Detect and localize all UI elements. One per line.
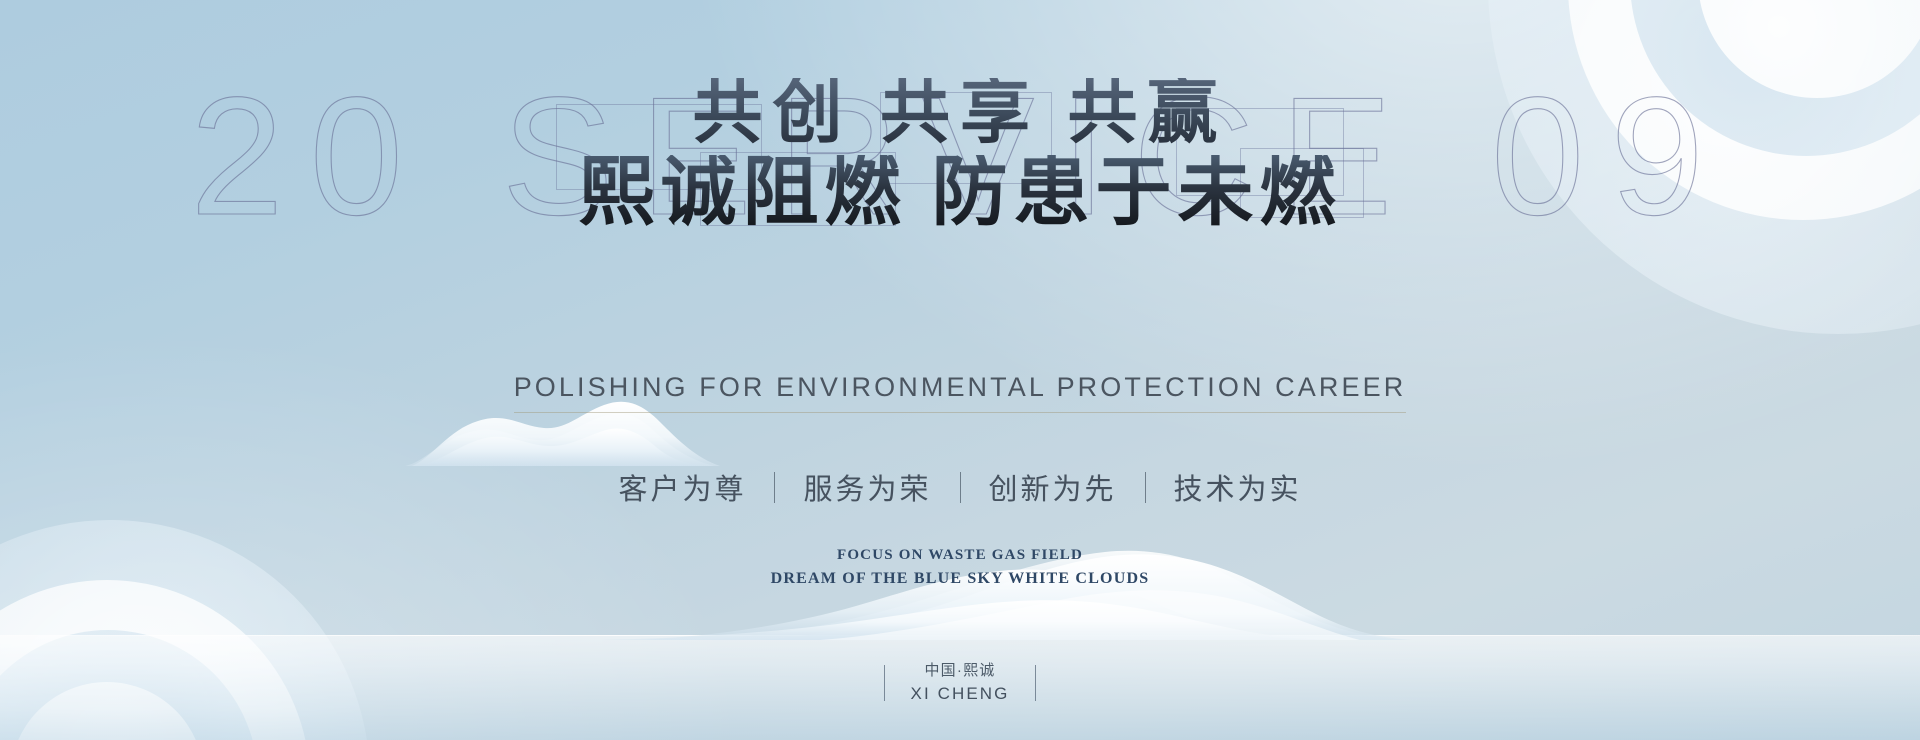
mini-slogan-block: FOCUS ON WASTE GAS FIELD DREAM OF THE BL… [0,545,1920,590]
mini-slogan-line-2: DREAM OF THE BLUE SKY WHITE CLOUDS [0,567,1920,590]
headline-line-1: 共创 共享 共赢 [0,78,1920,149]
footer-brand-en: XI CHENG [911,683,1010,706]
promo-banner: 20 SERVICE 09 [0,0,1920,740]
footer-text-group: 中国·熙诚 XI CHENG [911,660,1010,705]
tagline-item-1: 客户为尊 [590,466,774,508]
tagline-item-4: 技术为实 [1146,466,1330,508]
subtitle-text: POLISHING FOR ENVIRONMENTAL PROTECTION C… [514,372,1407,413]
footer-divider-left [884,665,885,701]
mini-slogan-line-1: FOCUS ON WASTE GAS FIELD [0,545,1920,567]
horizon-line [0,635,1920,636]
tagline-item-2: 服务为荣 [775,466,959,508]
tagline-item-3: 创新为先 [961,466,1145,508]
footer-brand-cn: 中国·熙诚 [911,660,1010,683]
footer-divider-right [1035,665,1036,701]
headline-block: 共创 共享 共赢 熙诚阻燃 防患于未燃 [0,78,1920,233]
headline-line-2: 熙诚阻燃 防患于未燃 [0,155,1920,233]
footer-badge: 中国·熙诚 XI CHENG [0,660,1920,705]
tagline-row: 客户为尊 服务为荣 创新为先 技术为实 [0,466,1920,508]
subtitle-wrapper: POLISHING FOR ENVIRONMENTAL PROTECTION C… [0,372,1920,413]
